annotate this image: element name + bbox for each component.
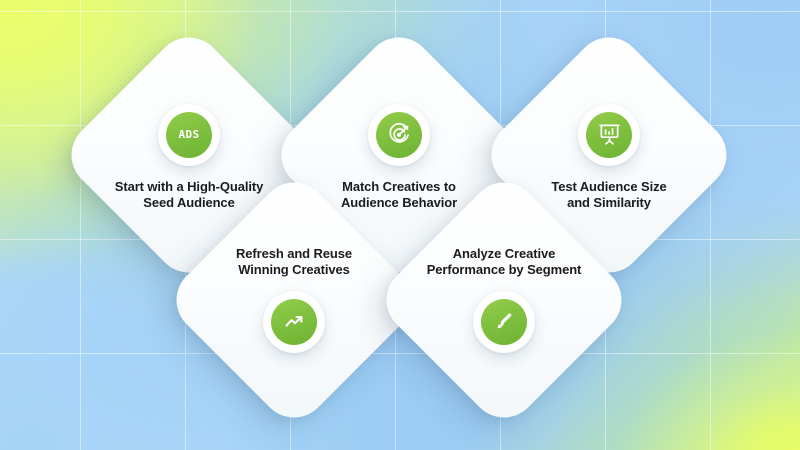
- icon-badge: [263, 291, 325, 353]
- ads-icon-label: ADS: [178, 129, 199, 140]
- icon-badge: [473, 291, 535, 353]
- paintbrush-icon: [481, 299, 527, 345]
- card-label-line1: Refresh and Reuse: [208, 246, 380, 262]
- card-label-line1: Start with a High-Quality: [103, 179, 275, 195]
- card-label: Match Creatives to Audience Behavior: [313, 179, 485, 211]
- trending-line-icon: [271, 299, 317, 345]
- card-label-line2: Winning Creatives: [208, 262, 380, 278]
- diamond-card-analyze-performance[interactable]: Analyze Creative Performance by Segment: [372, 168, 635, 431]
- presentation-chart-icon: [586, 112, 632, 158]
- card-label: Test Audience Size and Similarity: [523, 179, 695, 211]
- ads-badge-icon: ADS: [166, 112, 212, 158]
- icon-badge: [368, 104, 430, 166]
- icon-badge: [578, 104, 640, 166]
- icon-badge: ADS: [158, 104, 220, 166]
- card-label: Refresh and Reuse Winning Creatives: [208, 246, 380, 278]
- infographic-canvas: ADS Start with a High-Quality Seed Audie…: [0, 0, 800, 450]
- card-content: Refresh and Reuse Winning Creatives: [201, 207, 387, 393]
- card-label-line2: Performance by Segment: [418, 262, 590, 278]
- card-label-line1: Test Audience Size: [523, 179, 695, 195]
- card-label-line1: Match Creatives to: [313, 179, 485, 195]
- target-arrow-icon: [376, 112, 422, 158]
- card-content: Analyze Creative Performance by Segment: [411, 207, 597, 393]
- card-label: Analyze Creative Performance by Segment: [418, 246, 590, 278]
- card-label: Start with a High-Quality Seed Audience: [103, 179, 275, 211]
- card-label-line1: Analyze Creative: [418, 246, 590, 262]
